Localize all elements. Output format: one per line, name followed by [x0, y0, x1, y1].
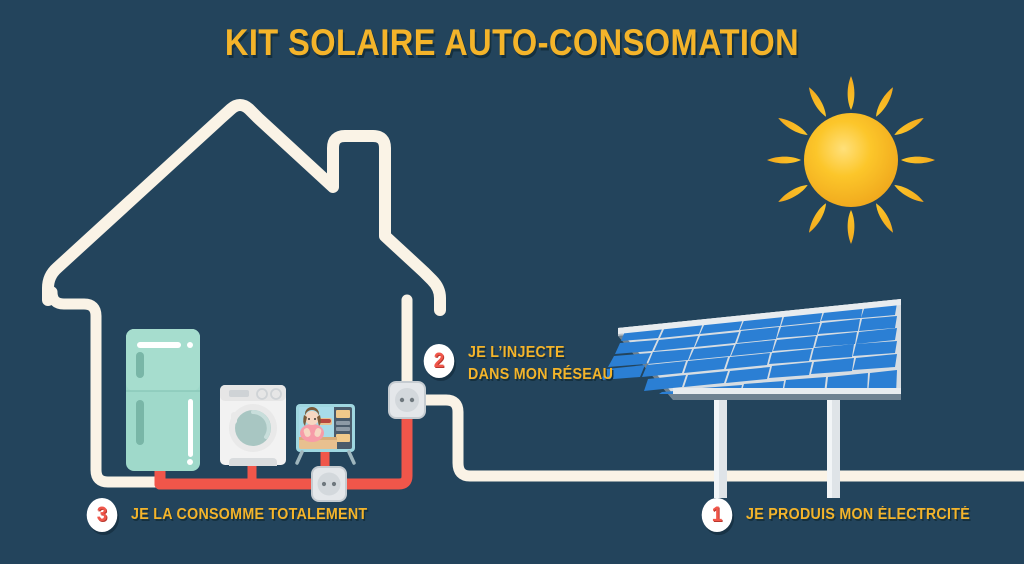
- step-label-1-line-1: JE PRODUIS MON ÉLECTRCITÉ: [746, 504, 970, 526]
- infographic-root: KIT SOLAIRE AUTO-CONSOMATION 1 JE PRODUI…: [0, 0, 1024, 564]
- page-title: KIT SOLAIRE AUTO-CONSOMATION: [61, 22, 962, 64]
- step-label-2: JE L’INJECTE DANS MON RÉSEAU: [468, 342, 613, 386]
- step-badge-3: 3: [87, 498, 118, 532]
- sun-core: [804, 113, 898, 207]
- step-label-2-line-1: JE L’INJECTE: [468, 342, 613, 364]
- washing-machine-icon: [220, 385, 286, 466]
- solar-panel: [601, 299, 901, 498]
- wall-socket-upper[interactable]: [389, 382, 425, 418]
- step-badge-2: 2: [424, 344, 455, 378]
- step-label-3-line-1: JE LA CONSOMME TOTALEMENT: [131, 504, 367, 526]
- house-outline: [48, 105, 440, 310]
- wall-socket-lower[interactable]: [312, 467, 346, 501]
- step-label-2-line-2: DANS MON RÉSEAU: [468, 364, 613, 386]
- step-callout-2: 2 JE L’INJECTE DANS MON RÉSEAU: [422, 342, 626, 386]
- step-badge-1: 1: [702, 498, 733, 532]
- step-label-3: JE LA CONSOMME TOTALEMENT: [131, 504, 367, 526]
- step-label-1: JE PRODUIS MON ÉLECTRCITÉ: [746, 504, 970, 526]
- sun-icon: [767, 76, 935, 244]
- step-callout-1: 1 JE PRODUIS MON ÉLECTRCITÉ: [700, 498, 989, 532]
- step-callout-3: 3 JE LA CONSOMME TOTALEMENT: [85, 498, 388, 532]
- scene-illustration: [0, 0, 1024, 564]
- refrigerator-icon: [126, 329, 200, 471]
